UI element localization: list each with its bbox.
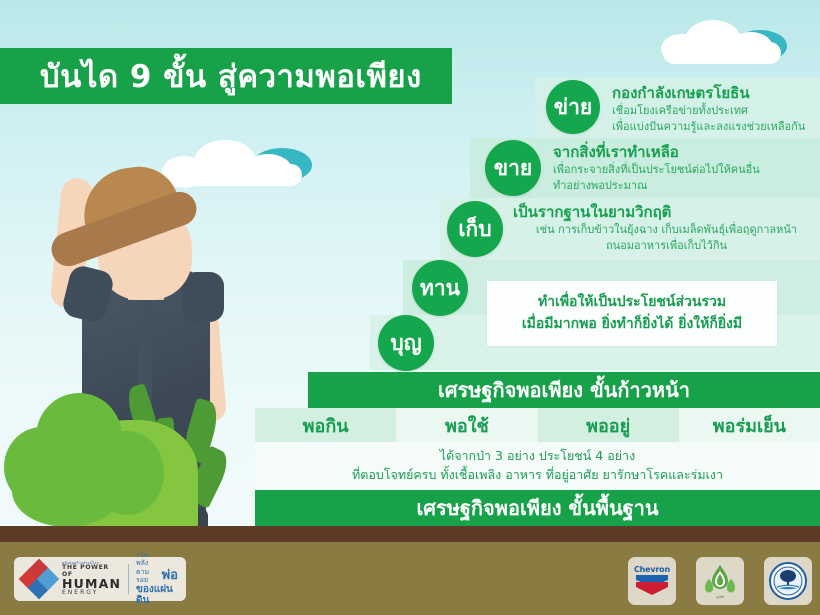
- thai-slogan-c: ตามรอย: [136, 568, 160, 584]
- step-9-badge[interactable]: ข่าย: [546, 80, 600, 134]
- step-5-badge[interactable]: บุญ: [378, 315, 434, 371]
- human-energy-wordmark: พลังคนสร้างสรรค์โลก THE POWER OF HUMAN E…: [62, 562, 121, 597]
- step-8-text: จากสิ่งที่เราทำเหลือ เพื่อกระจายสิ่งที่เ…: [553, 143, 820, 194]
- note-line-2: ที่ตอบโจทย์ครบ ทั้งเชื้อเพลิง อาหาร ที่อ…: [352, 466, 723, 485]
- step-8-heading: จากสิ่งที่เราทำเหลือ: [553, 143, 820, 162]
- advanced-economy-label: เศรษฐกิจพอเพียง ขั้นก้าวหน้า: [438, 374, 690, 406]
- chevron-wordmark: Chevron: [634, 565, 670, 574]
- thai-slogan-d: ของแผ่นดิน: [136, 584, 178, 607]
- step-6-badge[interactable]: ทาน: [412, 260, 468, 316]
- seal-logo-icon: [768, 561, 808, 601]
- chevron-logo-tile[interactable]: Chevron: [628, 557, 676, 605]
- step-7-line-1: เช่น การเก็บข้าวในยุ้งฉาง เก็บเมล็ดพันธุ…: [513, 222, 820, 238]
- forest-benefits-note: ได้จากป่า 3 อย่าง ประโยชน์ 4 อย่าง ที่ตอ…: [255, 442, 820, 490]
- cloud-top-right: [655, 20, 795, 62]
- thai-slogan-a: รวมพลัง: [136, 551, 160, 567]
- svg-text:มูลนิธิ: มูลนิธิ: [716, 595, 724, 599]
- human-energy-mark-icon: [22, 562, 56, 596]
- step-9-heading: กองกำลังเกษตรโยธิน: [612, 84, 820, 103]
- column-po-chai[interactable]: พอใช้: [396, 408, 537, 442]
- shared-message-line-2: เมื่อมีมากพอ ยิ่งทำก็ยิ่งได้ ยิ่งให้ก็ยิ…: [522, 314, 742, 336]
- chevron-emblem-icon: [635, 574, 669, 598]
- leaf-logo-icon: มูลนิธิ: [702, 562, 738, 600]
- column-po-yu[interactable]: พออยู่: [538, 408, 679, 442]
- farmer-sleeve-right: [182, 272, 224, 322]
- shared-message-box: ทำเพื่อให้เป็นประโยชน์ส่วนรวม เมื่อมีมาก…: [487, 281, 777, 346]
- step-9-line-1: เชื่อมโยงเครือข่ายทั้งประเทศ: [612, 103, 820, 119]
- step-8-line-1: เพื่อกระจายสิ่งที่เป็นประโยชน์ต่อไปให้คน…: [553, 162, 820, 178]
- soil-strip: [0, 526, 820, 542]
- shared-message-line-1: ทำเพื่อให้เป็นประโยชน์ส่วนรวม: [538, 292, 726, 314]
- power-of-human-energy-logo[interactable]: พลังคนสร้างสรรค์โลก THE POWER OF HUMAN E…: [14, 557, 186, 601]
- note-line-1: ได้จากป่า 3 อย่าง ประโยชน์ 4 อย่าง: [440, 447, 635, 466]
- leaf-foundation-logo-tile[interactable]: มูลนิธิ: [696, 557, 744, 605]
- step-9-line-2: เพื่อแบ่งปันความรู้และลงแรงช่วยเหลือกัน: [612, 119, 820, 135]
- step-9-text: กองกำลังเกษตรโยธิน เชื่อมโยงเครือข่ายทั้…: [612, 84, 820, 135]
- step-8-badge[interactable]: ขาย: [485, 140, 541, 196]
- page-title: บันได 9 ขั้น สู่ความพอเพียง: [0, 51, 422, 101]
- royal-seal-logo-tile[interactable]: [764, 557, 812, 605]
- bush-lobe: [90, 431, 164, 515]
- page-title-bar: บันได 9 ขั้น สู่ความพอเพียง: [0, 48, 452, 104]
- step-7-line-2: ถนอมอาหารเพื่อเก็บไว้กิน: [513, 238, 820, 254]
- step-7-heading: เป็นรากฐานในยามวิกฤติ: [513, 203, 820, 222]
- column-po-rom-yen[interactable]: พอร่มเย็น: [679, 408, 820, 442]
- basic-economy-band: เศรษฐกิจพอเพียง ขั้นพื้นฐาน: [255, 490, 820, 526]
- step-7-badge[interactable]: เก็บ: [447, 201, 503, 257]
- logo-thai-slogan: รวมพลัง ตามรอย พ่อ ของแผ่นดิน: [136, 551, 178, 606]
- sufficiency-columns: พอกิน พอใช้ พออยู่ พอร่มเย็น: [255, 408, 820, 442]
- thai-slogan-b: พ่อ: [162, 569, 178, 584]
- basic-economy-label: เศรษฐกิจพอเพียง ขั้นพื้นฐาน: [416, 492, 658, 524]
- cloud-puff: [729, 32, 773, 64]
- bush-cluster: [4, 375, 194, 530]
- step-7-text: เป็นรากฐานในยามวิกฤติ เช่น การเก็บข้าวใน…: [513, 203, 820, 254]
- logo-divider: [128, 564, 129, 594]
- infographic-canvas: บันได 9 ขั้น สู่ความพอเพียง กองกำลังเกษต…: [0, 0, 820, 615]
- cloud-puff: [661, 34, 701, 64]
- logo-line-3: ENERGY: [62, 590, 121, 596]
- advanced-economy-band: เศรษฐกิจพอเพียง ขั้นก้าวหน้า: [308, 372, 820, 408]
- step-8-line-2: ทำอย่างพอประมาณ: [553, 178, 820, 194]
- column-po-kin[interactable]: พอกิน: [255, 408, 396, 442]
